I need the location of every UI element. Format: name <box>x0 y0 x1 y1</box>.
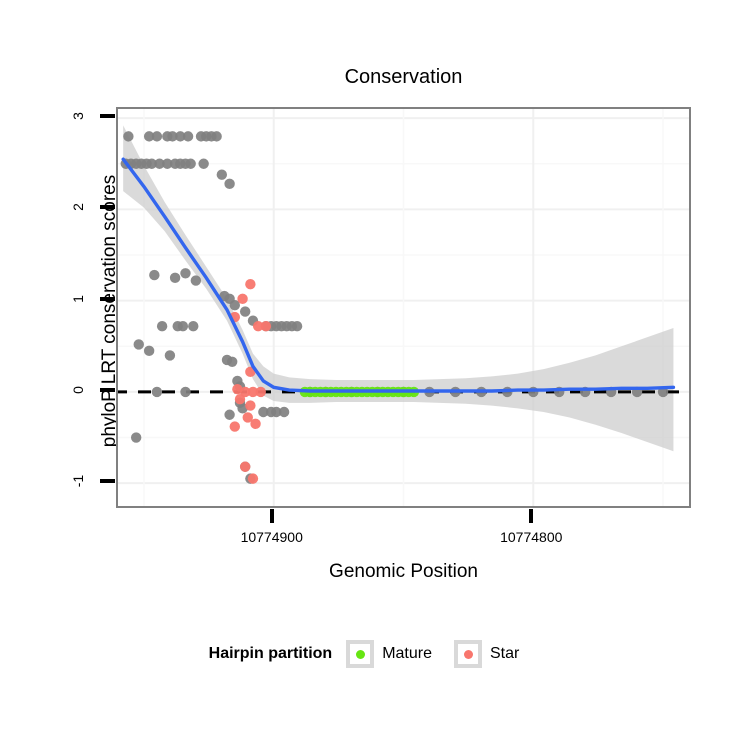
y-tick-label-text: 3 <box>70 98 86 134</box>
y-tick-mark <box>100 297 115 301</box>
x-tick-label: 10774800 <box>471 529 591 545</box>
y-tick-mark <box>100 114 115 118</box>
y-tick-label-text: -1 <box>70 463 86 499</box>
legend-key-star <box>454 640 482 668</box>
y-tick-label: 3 <box>60 108 96 124</box>
legend-item-star[interactable]: Star <box>454 640 533 668</box>
x-tick-mark <box>270 509 274 523</box>
y-tick-label: 0 <box>60 382 96 398</box>
legend-item-mature[interactable]: Mature <box>346 640 446 668</box>
legend-dot-star-icon <box>464 650 473 659</box>
y-tick-mark <box>100 205 115 209</box>
x-axis-title: Genomic Position <box>116 561 691 583</box>
legend: Hairpin partition Mature Star <box>0 640 750 668</box>
legend-dot-mature-icon <box>356 650 365 659</box>
plot-panel <box>116 107 691 508</box>
confidence-band <box>123 125 673 451</box>
y-tick-mark <box>100 479 115 483</box>
chart-figure: Conservation phyloP LRT conservation sco… <box>0 0 750 750</box>
y-tick-label: 1 <box>60 291 96 307</box>
y-tick-label-text: 1 <box>70 281 86 317</box>
scatter-points-other <box>121 131 669 484</box>
legend-label-star: Star <box>490 645 519 663</box>
legend-label-mature: Mature <box>382 645 432 663</box>
smooth-fit-line <box>123 159 673 391</box>
legend-key-mature <box>346 640 374 668</box>
y-tick-label-text: 2 <box>70 189 86 225</box>
x-tick-label: 10774900 <box>212 529 332 545</box>
legend-title: Hairpin partition <box>209 645 333 663</box>
x-tick-mark <box>529 509 533 523</box>
chart-title: Conservation <box>116 66 691 89</box>
y-tick-mark <box>100 388 115 392</box>
y-tick-label: 2 <box>60 199 96 215</box>
y-tick-label-text: 0 <box>70 372 86 408</box>
y-tick-label: -1 <box>60 473 96 489</box>
plot-area-svg <box>118 109 689 506</box>
